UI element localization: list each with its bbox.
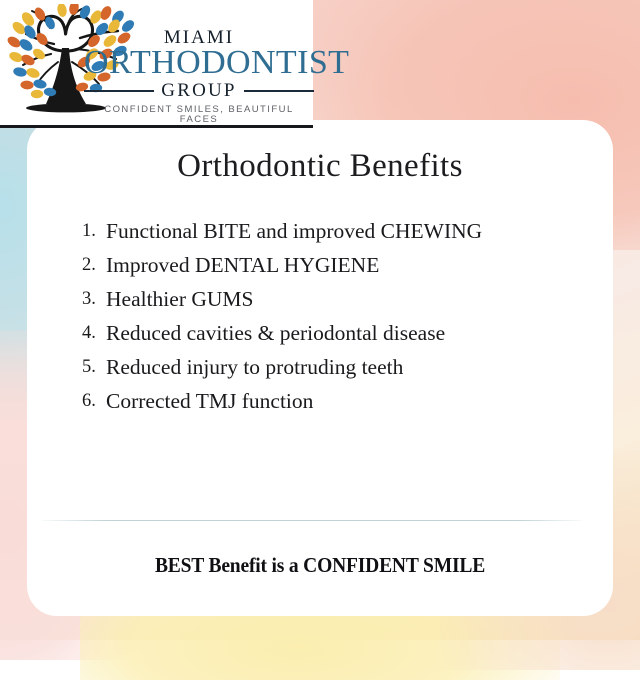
list-item-label: Reduced cavities & periodontal disease <box>106 316 552 350</box>
list-item-number: 3. <box>82 282 106 316</box>
list-item-number: 6. <box>82 384 106 418</box>
logo-line-group: GROUP <box>161 81 236 100</box>
list-item-number: 1. <box>82 214 106 248</box>
logo-wordmark: MIAMI ORTHODONTIST GROUP CONFIDENT SMILE… <box>84 28 314 124</box>
list-item: 5. Reduced injury to protruding teeth <box>82 350 552 384</box>
list-item: 1. Functional BITE and improved CHEWING <box>82 214 552 248</box>
list-item: 2. Improved DENTAL HYGIENE <box>82 248 552 282</box>
logo-rule-left <box>84 90 154 92</box>
list-item-number: 4. <box>82 316 106 350</box>
benefits-list: 1. Functional BITE and improved CHEWING … <box>82 214 552 418</box>
logo-tagline: CONFIDENT SMILES, BEAUTIFUL FACES <box>84 105 314 124</box>
logo-rule-right <box>244 90 314 92</box>
list-item-label: Improved DENTAL HYGIENE <box>106 248 552 282</box>
list-item: 6. Corrected TMJ function <box>82 384 552 418</box>
list-item-label: Healthier GUMS <box>106 282 552 316</box>
list-item: 4. Reduced cavities & periodontal diseas… <box>82 316 552 350</box>
list-item-label: Functional BITE and improved CHEWING <box>106 214 552 248</box>
list-item-label: Reduced injury to protruding teeth <box>106 350 552 384</box>
horizontal-divider <box>42 520 582 521</box>
list-item: 3. Healthier GUMS <box>82 282 552 316</box>
logo-bottom-rule <box>0 125 313 128</box>
list-item-number: 2. <box>82 248 106 282</box>
page-title: Orthodontic Benefits <box>0 148 640 185</box>
logo-group-row: GROUP <box>84 81 314 100</box>
logo-plate: MIAMI ORTHODONTIST GROUP CONFIDENT SMILE… <box>0 0 313 128</box>
logo-line-orthodontist: ORTHODONTIST <box>84 46 314 80</box>
list-item-number: 5. <box>82 350 106 384</box>
logo-lockup: MIAMI ORTHODONTIST GROUP CONFIDENT SMILE… <box>0 0 313 128</box>
footer-tagline: BEST Benefit is a CONFIDENT SMILE <box>22 553 617 578</box>
list-item-label: Corrected TMJ function <box>106 384 552 418</box>
